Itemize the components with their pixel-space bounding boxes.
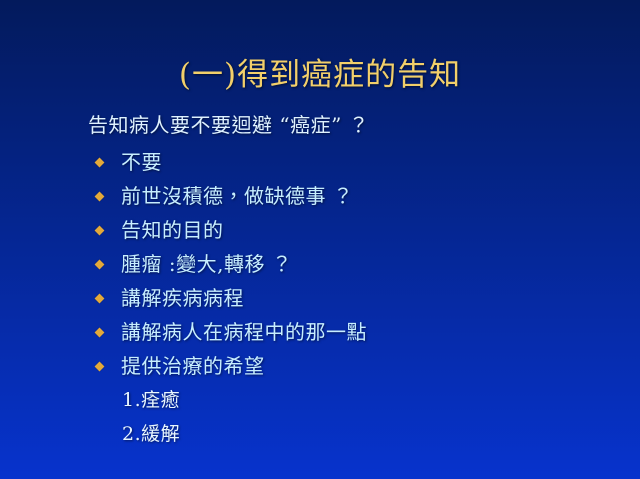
sub-list-item: 2.緩解 xyxy=(122,423,628,445)
sub-item-number: 1. xyxy=(122,389,141,411)
list-item: 前世沒積德，做缺德事 ？ xyxy=(88,185,628,208)
diamond-bullet-icon xyxy=(95,260,105,270)
presentation-slide: (一)得到癌症的告知 告知病人要不要迴避 “癌症” ？ 不要 前世沒積德，做缺德… xyxy=(0,0,640,479)
diamond-bullet-icon xyxy=(95,192,105,202)
diamond-bullet-icon xyxy=(95,226,105,236)
sub-item-number: 2. xyxy=(122,423,141,445)
bullet-item-label: 前世沒積德，做缺德事 ？ xyxy=(121,185,353,208)
slide-body: 告知病人要不要迴避 “癌症” ？ 不要 前世沒積德，做缺德事 ？ 告知的目的 腫… xyxy=(88,113,628,457)
bullet-list: 不要 前世沒積德，做缺德事 ？ 告知的目的 腫瘤 :變大,轉移 ？ 講解疾病病程 xyxy=(88,151,628,378)
bullet-item-label: 告知的目的 xyxy=(121,219,224,242)
bullet-item-label: 腫瘤 :變大,轉移 ？ xyxy=(121,253,292,276)
slide-title-area: (一)得到癌症的告知 xyxy=(0,55,640,95)
bullet-item-label: 不要 xyxy=(121,151,162,174)
diamond-bullet-icon xyxy=(95,294,105,304)
diamond-bullet-icon xyxy=(95,158,105,168)
intro-question-line: 告知病人要不要迴避 “癌症” ？ xyxy=(88,113,628,137)
sub-item-label: 痊癒 xyxy=(141,389,180,411)
list-item: 腫瘤 :變大,轉移 ？ xyxy=(88,253,628,276)
list-item: 提供治療的希望 xyxy=(88,355,628,378)
list-item: 講解疾病病程 xyxy=(88,287,628,310)
list-item: 告知的目的 xyxy=(88,219,628,242)
sub-list-item: 1.痊癒 xyxy=(122,389,628,411)
bullet-item-label: 講解病人在病程中的那一點 xyxy=(121,321,367,344)
diamond-bullet-icon xyxy=(95,362,105,372)
list-item: 不要 xyxy=(88,151,628,174)
bullet-item-label: 提供治療的希望 xyxy=(121,355,265,378)
diamond-bullet-icon xyxy=(95,328,105,338)
list-item: 講解病人在病程中的那一點 xyxy=(88,321,628,344)
numbered-sub-list: 1.痊癒 2.緩解 xyxy=(88,389,628,445)
bullet-item-label: 講解疾病病程 xyxy=(121,287,244,310)
sub-item-label: 緩解 xyxy=(141,423,180,445)
slide-title: (一)得到癌症的告知 xyxy=(179,55,461,95)
